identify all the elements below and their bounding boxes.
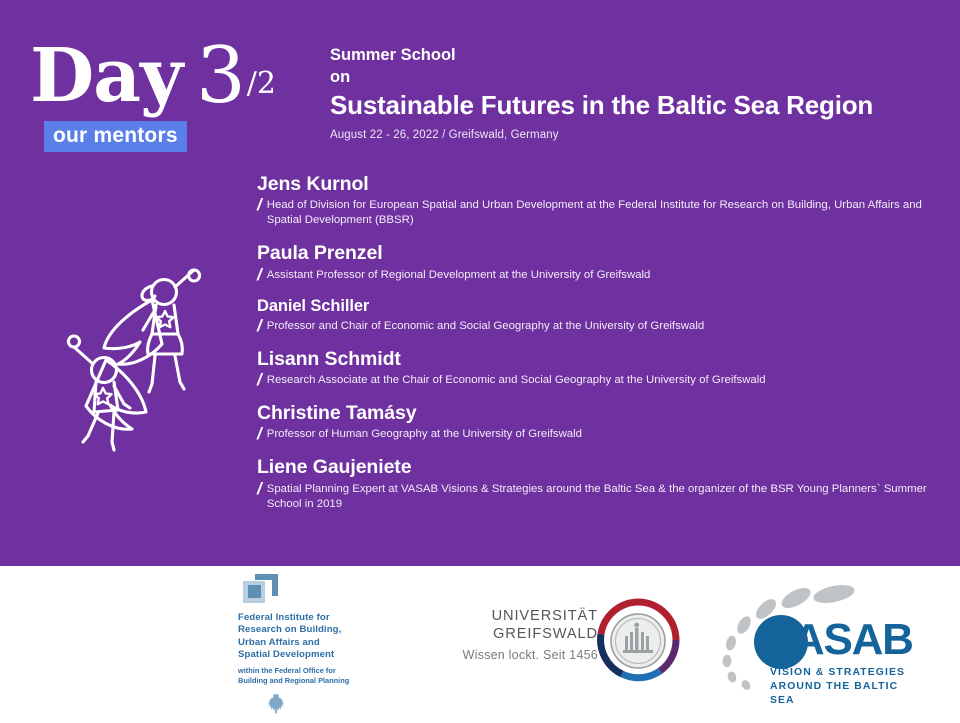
- vasab-tag-line2: AROUND THE BALTIC SEA: [770, 680, 916, 708]
- bbsr-name-line4: Spatial Development: [238, 649, 388, 661]
- bbsr-name-line3: Urban Affairs and: [238, 637, 388, 649]
- day-number: 3: [196, 42, 246, 111]
- superhero-illustration: [48, 252, 238, 457]
- german-federal-eagle-icon: [262, 692, 288, 718]
- mentor-role-text: Spatial Planning Expert at VASAB Visions…: [267, 482, 937, 512]
- headline-block: Day 3 /2 our mentors: [30, 42, 276, 152]
- vasab-logo: VASAB VISION & STRATEGIES AROUND THE BAL…: [706, 580, 916, 700]
- slash-separator: /: [257, 317, 262, 334]
- slash-separator: /: [257, 425, 262, 442]
- mentor-role: / Assistant Professor of Regional Develo…: [257, 268, 937, 283]
- day-fraction: /2: [247, 66, 276, 101]
- mentor-entry: Lisann Schmidt / Research Associate at t…: [257, 347, 937, 388]
- greifswald-logo: UNIVERSITÄT GREIFSWALD Wissen lockt. Sei…: [408, 608, 598, 662]
- mentor-name: Christine Tamásy: [257, 401, 937, 425]
- mentor-entry: Jens Kurnol / Head of Division for Europ…: [257, 172, 937, 228]
- mentor-role-line1: Spatial Planning Expert at VASAB Visions…: [267, 483, 655, 495]
- mentor-role-text: Research Associate at the Chair of Econo…: [267, 373, 766, 388]
- day-title-row: Day 3 /2: [30, 42, 276, 111]
- mentor-role-text: Head of Division for European Spatial an…: [267, 198, 937, 228]
- vasab-tag-line1: VISION & STRATEGIES: [770, 666, 916, 680]
- greifswald-seal-icon: [592, 594, 684, 686]
- mentor-name: Liene Gaujeniete: [257, 455, 937, 479]
- mentor-role-text: Assistant Professor of Regional Developm…: [267, 268, 651, 283]
- summer-school-date: August 22 - 26, 2022 / Greifswald, Germa…: [330, 129, 950, 141]
- slash-separator: /: [257, 480, 262, 497]
- greifswald-name: UNIVERSITÄT GREIFSWALD: [408, 608, 598, 643]
- summer-school-line1: Summer School: [330, 44, 950, 66]
- mentor-name: Lisann Schmidt: [257, 347, 937, 371]
- mentor-name: Paula Prenzel: [257, 241, 937, 265]
- mentor-role: / Professor of Human Geography at the Un…: [257, 427, 937, 442]
- mentor-role: / Spatial Planning Expert at VASAB Visio…: [257, 482, 937, 512]
- mentor-name: Daniel Schiller: [257, 296, 937, 317]
- mentor-role: / Head of Division for European Spatial …: [257, 198, 937, 228]
- greifswald-tagline: Wissen lockt. Seit 1456: [408, 648, 598, 662]
- bbsr-name: Federal Institute for Research on Buildi…: [238, 612, 388, 661]
- slash-separator: /: [257, 196, 262, 213]
- male-superhero-icon: [68, 336, 146, 450]
- bbsr-squares-icon: [242, 573, 280, 607]
- mentor-entry: Paula Prenzel / Assistant Professor of R…: [257, 241, 937, 282]
- mentor-entry: Liene Gaujeniete / Spatial Planning Expe…: [257, 455, 937, 511]
- footer-logo-bar: Federal Institute for Research on Buildi…: [0, 566, 960, 720]
- female-superhero-icon: [104, 270, 200, 392]
- vasab-tagline: VISION & STRATEGIES AROUND THE BALTIC SE…: [770, 666, 916, 708]
- mentor-entry: Daniel Schiller / Professor and Chair of…: [257, 296, 937, 334]
- bbsr-subtitle: within the Federal Office for Building a…: [238, 666, 388, 685]
- mentor-role-text: Professor and Chair of Economic and Soci…: [267, 319, 704, 334]
- day-word: Day: [30, 42, 182, 110]
- bbsr-sub-line2: Building and Regional Planning: [238, 676, 388, 686]
- mentor-role-line1: Head of Division for European Spatial an…: [267, 199, 831, 211]
- slash-separator: /: [257, 266, 262, 283]
- our-mentors-badge: our mentors: [44, 121, 187, 152]
- mentor-role: / Research Associate at the Chair of Eco…: [257, 373, 937, 388]
- bbsr-logo: Federal Institute for Research on Buildi…: [238, 573, 388, 718]
- summer-school-title: Sustainable Futures in the Baltic Sea Re…: [330, 90, 950, 122]
- slash-separator: /: [257, 371, 262, 388]
- mentor-role-text: Professor of Human Geography at the Univ…: [267, 427, 582, 442]
- mentor-name: Jens Kurnol: [257, 172, 937, 196]
- bbsr-name-line2: Research on Building,: [238, 624, 388, 636]
- summer-school-line2: on: [330, 66, 950, 88]
- mentor-entry: Christine Tamásy / Professor of Human Ge…: [257, 401, 937, 442]
- summer-school-header: Summer School on Sustainable Futures in …: [330, 44, 950, 141]
- bbsr-sub-line1: within the Federal Office for: [238, 666, 388, 676]
- mentor-role: / Professor and Chair of Economic and So…: [257, 319, 937, 334]
- mentor-list: Jens Kurnol / Head of Division for Europ…: [257, 172, 937, 512]
- bbsr-name-line1: Federal Institute for: [238, 612, 388, 624]
- slide: Day 3 /2 our mentors Summer School on Su…: [0, 0, 960, 720]
- vasab-wordmark: VASAB: [768, 618, 913, 662]
